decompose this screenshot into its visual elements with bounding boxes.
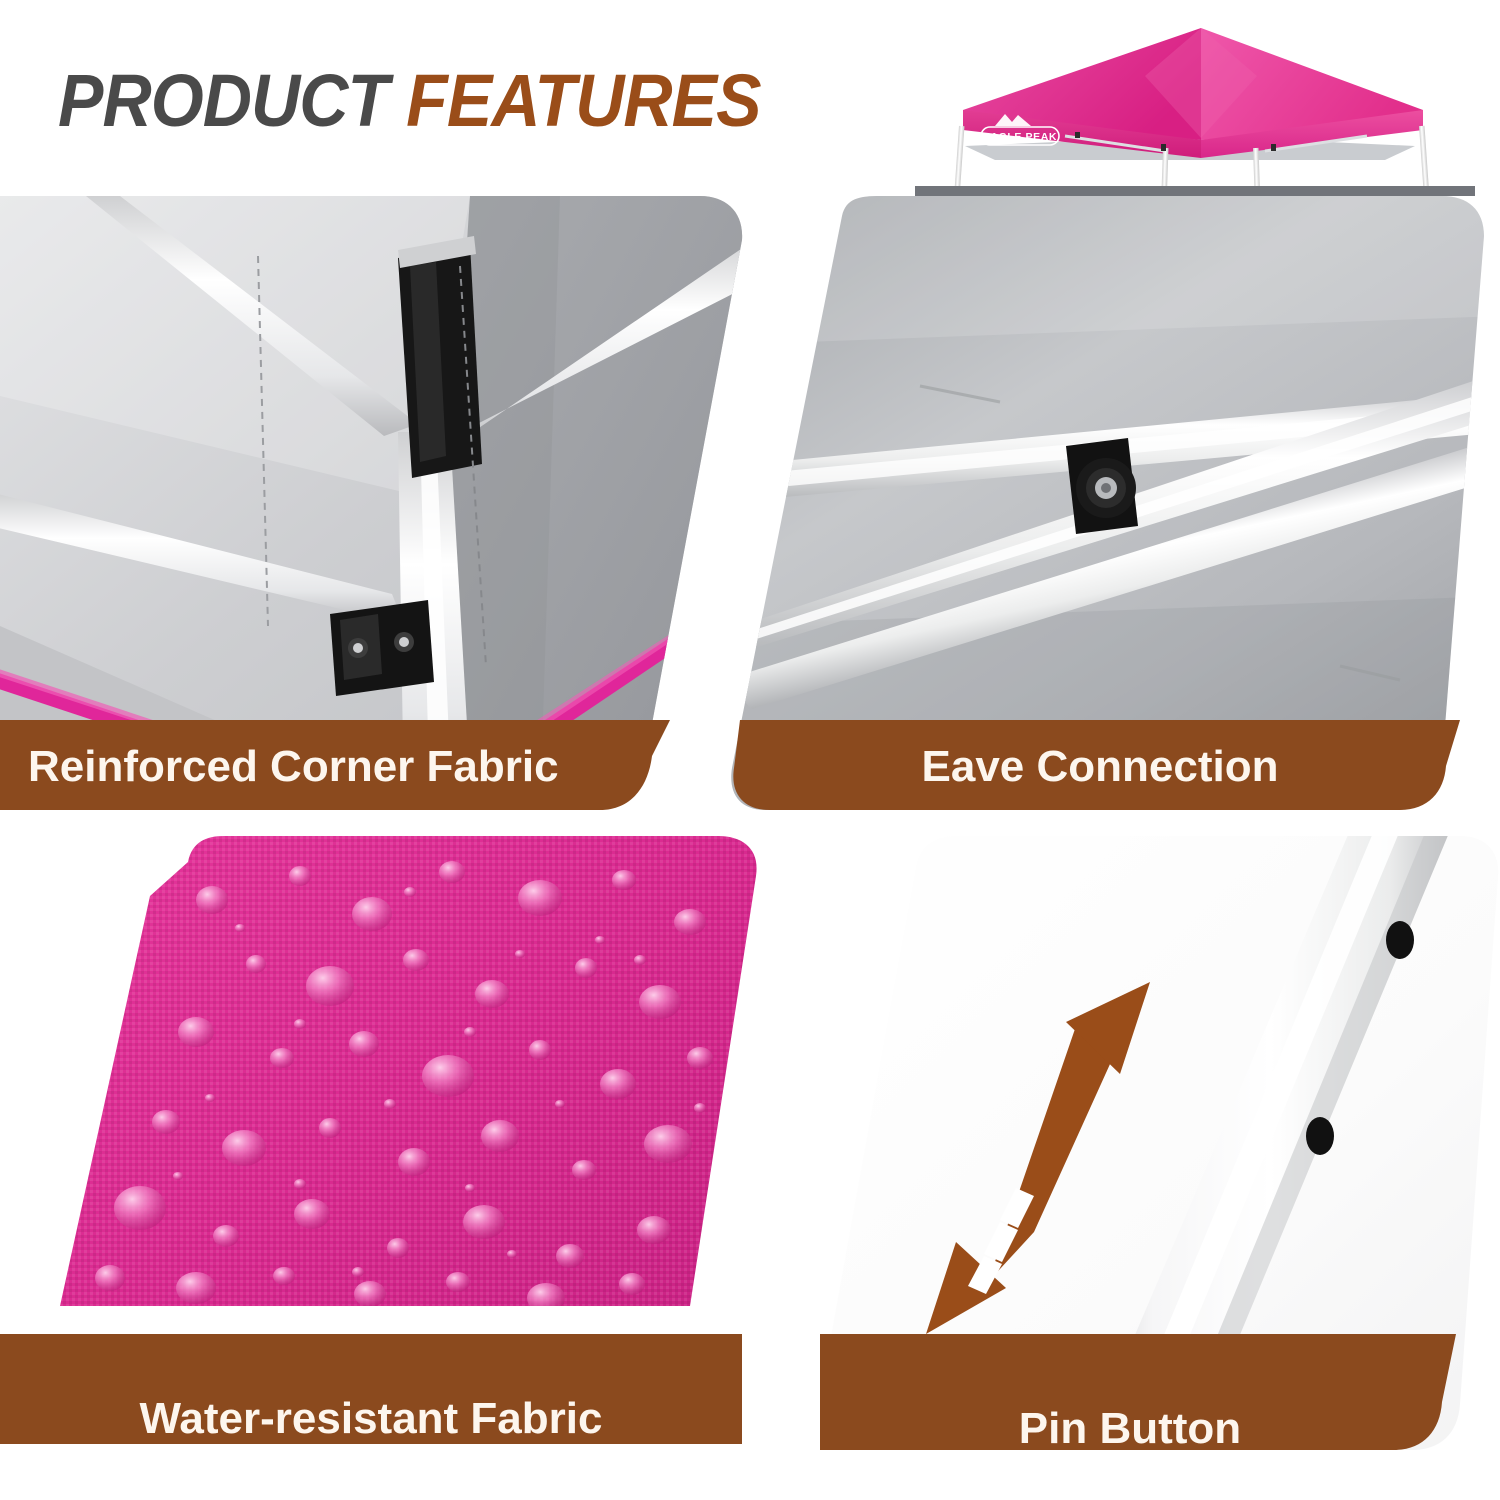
panel-3-label: Water-resistant Fabric (0, 1394, 742, 1444)
title-word-features: FEATURES (406, 59, 760, 142)
bracket-screw-2 (399, 637, 409, 647)
water-resistant-fabric-photo (0, 836, 790, 1476)
panel-3-label-text: Water-resistant Fabric (140, 1394, 603, 1443)
panel-4-label: Pin Button (820, 1404, 1440, 1454)
panel-1-label: Reinforced Corner Fabric (28, 742, 559, 792)
canopy-hub-left (1075, 132, 1080, 138)
panel-1-label-text: Reinforced Corner Fabric (28, 742, 559, 791)
pin-hole-upper (1386, 921, 1414, 959)
feature-panel-reinforced-corner-fabric[interactable]: Reinforced Corner Fabric (0, 196, 760, 810)
eave-pivot-hub (1066, 438, 1138, 534)
feature-panel-eave-connection[interactable]: Eave Connection (700, 196, 1500, 810)
page-title: PRODUCT FEATURES (58, 58, 761, 143)
velcro-strap (398, 236, 482, 478)
pin-button-photo (820, 836, 1500, 1476)
bracket-screw-1 (353, 643, 363, 653)
pin-hole-lower (1306, 1117, 1334, 1155)
canopy-illustration: EAGLE PEAK (915, 18, 1475, 196)
canopy-hub-center (1161, 144, 1166, 151)
panel-2-label-text: Eave Connection (922, 742, 1279, 791)
canopy-leg-left (955, 126, 965, 190)
eagle-peak-logo-text: EAGLE PEAK (983, 131, 1057, 143)
panel-2-label: Eave Connection (700, 742, 1500, 792)
hero-canopy-image: EAGLE PEAK (915, 18, 1475, 196)
infographic-root: PRODUCT FEATURES (0, 0, 1500, 1500)
canopy-leg-right (1419, 126, 1429, 190)
header: PRODUCT FEATURES (0, 0, 1500, 190)
feature-panel-water-resistant-fabric[interactable]: Water-resistant Fabric (0, 836, 790, 1476)
corner-bracket (330, 600, 434, 696)
panel-4-label-text: Pin Button (1019, 1404, 1241, 1453)
canopy-hub-right (1271, 144, 1276, 151)
title-word-product: PRODUCT (58, 59, 388, 142)
feature-panel-pin-button[interactable]: Pin Button (820, 836, 1500, 1476)
reinforced-corner-photo (0, 196, 760, 810)
ground-strip (915, 186, 1475, 196)
eave-connection-photo (700, 196, 1500, 810)
